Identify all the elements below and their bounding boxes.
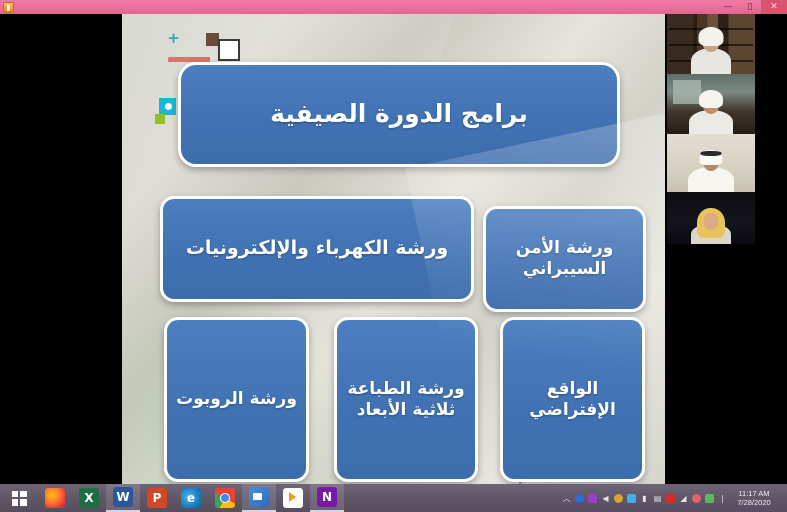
antivirus-icon[interactable] [664,484,677,512]
box-virtual-reality[interactable]: الواقع الإفتراضي [500,317,645,482]
pen-icon[interactable]: ❘ [716,484,729,512]
taskbar-item-edge[interactable]: e [174,484,208,512]
word-icon: W [113,487,133,507]
participant-2-headdress [699,90,723,108]
plug-icon[interactable] [690,484,703,512]
network-icon[interactable]: ◢ [677,484,690,512]
box-cybersecurity-label: ورشة الأمن السيبراني [510,238,620,279]
video-tile-participant-4[interactable] [667,192,755,244]
battery-icon[interactable]: ▮ [638,484,651,512]
slide-title-box[interactable]: برامج الدورة الصيفية [178,62,620,167]
participant-1-headdress [699,27,724,46]
excel-icon: X [79,488,99,508]
green-square-icon [155,114,165,124]
firefox-icon [45,488,65,508]
keyboard-icon[interactable]: ▤ [651,484,664,512]
video-tile-participant-1[interactable] [667,14,755,74]
taskbar-item-zoom[interactable] [242,484,276,512]
clock-time: 11:17 AM [738,489,769,498]
close-button[interactable]: ✕ [761,0,787,14]
box-robot-workshop[interactable]: ورشة الروبوت [164,317,309,482]
taskbar-item-onenote[interactable]: N [310,484,344,512]
box-electricity-label: ورشة الكهرباء والإلكترونيات [180,237,454,260]
video-tile-participant-3[interactable] [667,134,755,192]
taskbar-item-media-player[interactable] [276,484,310,512]
onenote-icon: N [317,487,337,507]
plus-marker-icon: + [167,32,180,45]
screen: — ▯ ✕ + برامج الدورة الصيفية ورشة الكهرب… [0,0,787,512]
show-desktop-button[interactable] [777,484,785,512]
windows-taskbar[interactable]: X W P e N ︿ ◀ ▮ ▤ [0,484,787,512]
taskbar-item-powerpoint[interactable]: P [140,484,174,512]
participant-3-agal [701,151,722,156]
windows-logo-icon [12,491,27,506]
edge-icon: e [181,488,201,508]
media-player-icon [283,488,303,508]
slide-title-text: برامج الدورة الصيفية [264,99,534,130]
chrome-icon [215,488,235,508]
taskbar-item-firefox[interactable] [38,484,72,512]
taskbar-item-word[interactable]: W [106,484,140,512]
box-3d-printing-workshop[interactable]: ورشة الطباعة ثلاثية الأبعاد [334,317,478,482]
minimize-button[interactable]: — [717,0,739,14]
bluetooth-icon[interactable] [573,484,586,512]
video-participants-panel[interactable] [667,14,755,244]
onenote-tray-icon[interactable] [586,484,599,512]
window-titlebar: — ▯ ✕ [0,0,787,14]
cyan-square-dot-icon [159,98,176,115]
warning-icon[interactable] [612,484,625,512]
maximize-button[interactable]: ▯ [739,0,761,14]
updates-icon[interactable] [703,484,716,512]
presentation-icon [3,2,14,13]
box-virtual-reality-label: الواقع الإفتراضي [503,379,642,420]
box-robot-label: ورشة الروبوت [170,389,303,410]
volume-icon[interactable]: ◀ [599,484,612,512]
start-button[interactable] [0,484,38,512]
clock-date: 7/28/2020 [737,498,770,507]
video-tile-participant-2[interactable] [667,74,755,134]
hidden-icons-chevron-icon[interactable]: ︿ [560,484,573,512]
presentation-slide[interactable]: + برامج الدورة الصيفية ورشة الكهرباء وال… [122,14,665,484]
participant-4-head [704,213,719,230]
system-tray[interactable]: ︿ ◀ ▮ ▤ ◢ ❘ 11:17 AM 7/28/2020 [560,484,787,512]
box-electricity-workshop[interactable]: ورشة الكهرباء والإلكترونيات [160,196,474,302]
zoom-icon [249,487,269,507]
taskbar-item-excel[interactable]: X [72,484,106,512]
box-cybersecurity-workshop[interactable]: ورشة الأمن السيبراني [483,206,646,312]
outlined-square-icon [218,39,240,61]
office-icon[interactable] [625,484,638,512]
powerpoint-icon: P [147,488,167,508]
box-3d-printing-label: ورشة الطباعة ثلاثية الأبعاد [341,379,470,420]
taskbar-clock[interactable]: 11:17 AM 7/28/2020 [729,484,777,512]
taskbar-item-chrome[interactable] [208,484,242,512]
